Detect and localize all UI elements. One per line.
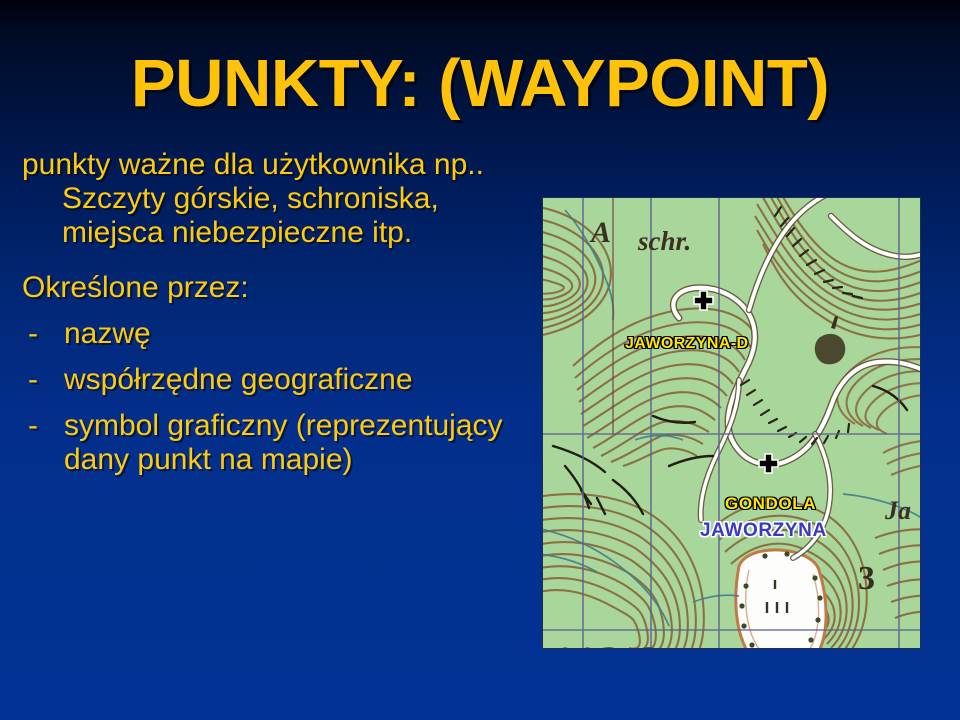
page-title: PUNKTY: (WAYPOINT): [0, 50, 960, 117]
intro-paragraph: punkty ważne dla użytkownika np.. Szczyt…: [22, 148, 534, 251]
topographic-map-image: A schr. JAWORZYNA-D 3 113,8 GONDOLA JAWO…: [543, 198, 920, 648]
presentation-slide: PUNKTY: (WAYPOINT) punkty ważne dla użyt…: [0, 0, 960, 720]
bullet-label: współrzędne geograficzne: [64, 363, 413, 396]
dash-bullet-icon: -: [28, 317, 38, 351]
slide-body-content: punkty ważne dla użytkownika np.. Szczyt…: [22, 148, 534, 480]
dash-bullet-icon: -: [28, 409, 38, 443]
spacer: [22, 399, 534, 409]
dash-bullet-icon: -: [28, 363, 38, 397]
bullet-item-nazwe: - nazwę: [22, 317, 534, 351]
bullet-item-wspolrzedne: - współrzędne geograficzne: [22, 363, 534, 397]
spacer: [22, 353, 534, 363]
spacer: [22, 257, 534, 271]
spacer: [22, 307, 534, 317]
bullet-item-symbol: - symbol graficzny (reprezentujący dany …: [22, 409, 534, 477]
bullet-label: symbol graficzny (reprezentujący dany pu…: [64, 409, 503, 476]
bullet-label: nazwę: [64, 317, 151, 350]
defined-by-heading: Określone przez:: [22, 271, 534, 305]
map-canvas: [543, 198, 920, 648]
